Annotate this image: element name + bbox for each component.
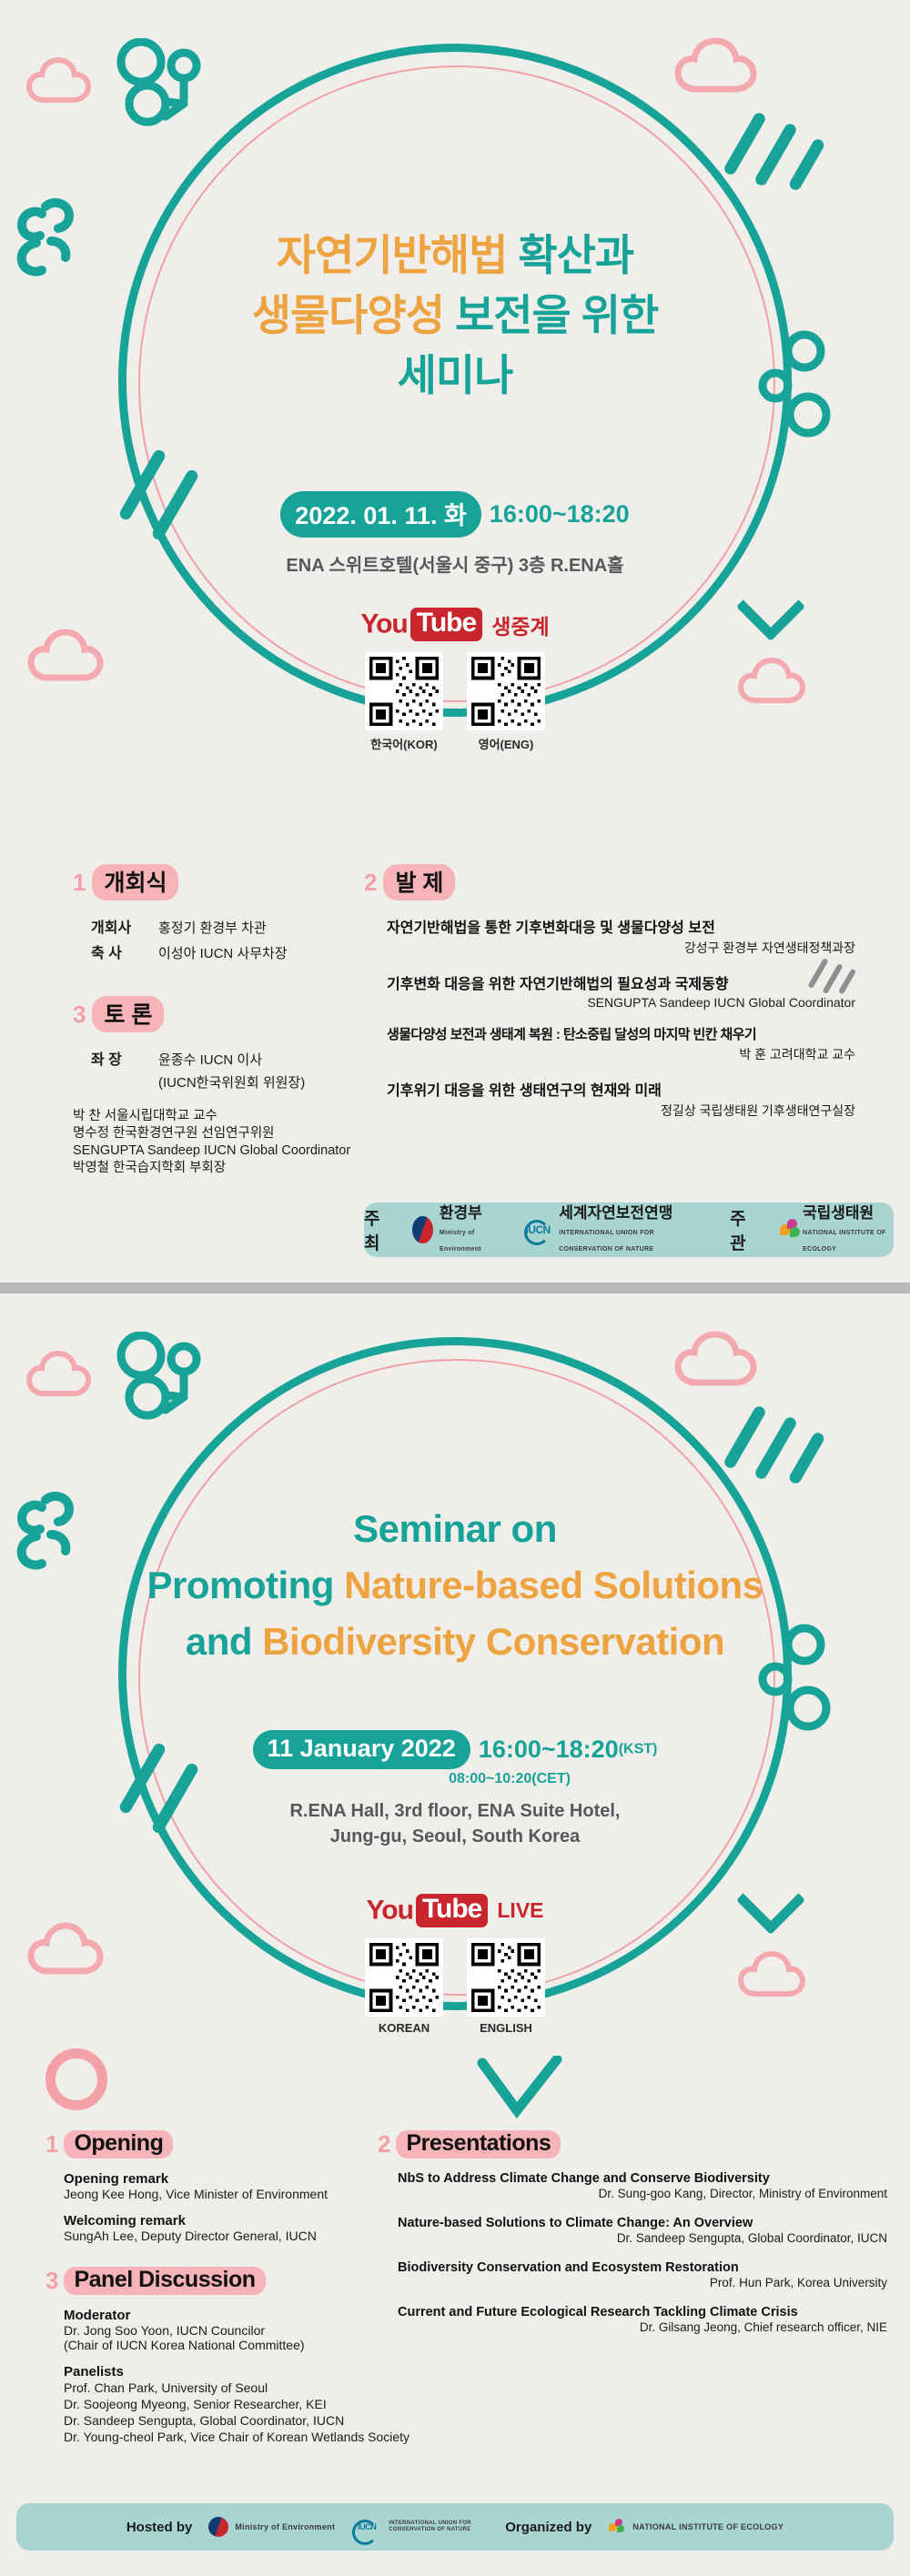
presentation-speaker: 강성구 환경부 자연생태정책과장 — [387, 939, 855, 957]
presentation-item: NbS to Address Climate Change and Conser… — [398, 2171, 887, 2200]
date-time-row: 2022. 01. 11. 화16:00~18:20 — [0, 491, 910, 538]
title-rest: 세미나 — [398, 351, 513, 399]
section-presentations-english: 2Presentations NbS to Address Climate Ch… — [378, 2130, 887, 2350]
title-rest: Promoting — [147, 1564, 344, 1606]
poster-english: Seminar on Promoting Nature-based Soluti… — [0, 1293, 910, 2576]
venue-line-1: R.ENA Hall, 3rd floor, ENA Suite Hotel, — [0, 1798, 910, 1824]
section-number: 1 — [73, 869, 86, 897]
panelist-item: 박 찬 서울시립대학교 교수 — [73, 1108, 373, 1125]
title-rest: 보전을 위한 — [444, 291, 658, 339]
opening-label: Opening remark — [64, 2171, 409, 2187]
slash-mark — [723, 1404, 767, 1470]
section-title: 토 론 — [92, 996, 164, 1032]
qr-label: 한국어(KOR) — [365, 735, 443, 752]
opening-row: 개회사홍정기 환경부 차관 — [91, 915, 364, 937]
qr-row: KOREAN — [0, 1938, 910, 2035]
host-label: Hosted by — [126, 2520, 193, 2535]
presentation-item: 생물다양성 보전과 생태계 복원 : 탄소중립 달성의 마지막 빈칸 채우기 박… — [387, 1024, 855, 1063]
sponsor-iucn: IUCN INTERNATIONAL UNION FOR CONSERVATIO… — [351, 2518, 489, 2536]
presentation-speaker: SENGUPTA Sandeep IUCN Global Coordinator — [387, 995, 855, 1010]
opening-label: Welcoming remark — [64, 2213, 409, 2229]
sponsor-subtitle: Ministry of Environment — [440, 1230, 481, 1253]
youtube-logo[interactable]: YouTube생중계 — [0, 608, 910, 641]
time-text: 16:00~18:20 — [479, 1736, 619, 1764]
presentation-item: Biodiversity Conservation and Ecosystem … — [398, 2260, 887, 2289]
panelist-item: Dr. Soojeong Myeong, Senior Researcher, … — [64, 2396, 437, 2412]
youtube-tube-badge: Tube — [410, 608, 482, 641]
section-number: 3 — [45, 2267, 58, 2295]
sponsor-name: 환경부 — [440, 1204, 482, 1222]
opening-value: Jeong Kee Hong, Vice Minister of Environ… — [64, 2187, 409, 2201]
title-highlight: 자연기반해법 — [277, 231, 507, 279]
qr-image — [365, 1938, 443, 2017]
title-line-3: and Biodiversity Conservation — [0, 1614, 910, 1670]
date-time-row: 11 January 202216:00~18:20(KST) — [0, 1730, 910, 1769]
qr-code-korean[interactable]: 한국어(KOR) — [365, 652, 443, 752]
chair-subtitle: (IUCN한국위원회 위원장) — [158, 1072, 373, 1092]
qr-image — [467, 652, 545, 730]
section-header: 1개회식 — [73, 864, 364, 901]
presentation-title: NbS to Address Climate Change and Conser… — [398, 2171, 887, 2186]
panelist-item: Dr. Sandeep Sengupta, Global Coordinator… — [64, 2412, 437, 2429]
youtube-live-label: 생중계 — [491, 615, 549, 639]
sponsor-subtitle: INTERNATIONAL UNION FOR CONSERVATION OF … — [559, 1230, 654, 1253]
presentation-title: 생물다양성 보전과 생태계 복원 : 탄소중립 달성의 마지막 빈칸 채우기 — [387, 1024, 855, 1043]
slash-mark — [723, 111, 767, 176]
nie-logo-icon — [608, 2519, 626, 2535]
chair-name: 윤종수 IUCN 이사 — [158, 1052, 262, 1068]
title-line-1: 자연기반해법 확산과 — [0, 226, 910, 286]
qr-code-korean[interactable]: KOREAN — [365, 1938, 443, 2035]
opening-row: Opening remark Jeong Kee Hong, Vice Mini… — [64, 2171, 409, 2201]
role-label: 개회사 — [91, 915, 158, 937]
youtube-tube-badge: Tube — [416, 1894, 488, 1927]
section-number: 2 — [364, 869, 377, 897]
qr-code-english[interactable]: ENGLISH — [467, 1938, 545, 2035]
qr-image — [365, 652, 443, 730]
title-highlight: Biodiversity Conservation — [262, 1620, 724, 1663]
slash-mark — [753, 1415, 798, 1481]
sponsor-bar-english: Hosted by Ministry of Environment IUCN I… — [16, 2503, 894, 2551]
pink-cloud-icon — [673, 1330, 773, 1394]
title-rest: 확산과 — [507, 231, 633, 279]
section-title: Panel Discussion — [64, 2267, 265, 2295]
youtube-logo[interactable]: YouTubeLIVE — [0, 1894, 910, 1927]
presentation-item: 기후위기 대응을 위한 생태연구의 현재와 미래 정길상 국립생태원 기후생태연… — [387, 1078, 855, 1120]
qr-image — [467, 1938, 545, 2017]
host-label: 주최 — [364, 1205, 389, 1254]
sponsor-name: INTERNATIONAL UNION FOR CONSERVATION OF … — [389, 2521, 489, 2533]
sponsor-ministry-of-environment: 환경부 Ministry of Environment — [412, 1205, 500, 1255]
panel-chair-row: 좌 장윤종수 IUCN 이사 — [91, 1047, 373, 1069]
presentation-item: 자연기반해법을 통한 기후변화대응 및 생물다양성 보전 강성구 환경부 자연생… — [387, 915, 855, 957]
poster-korean: 자연기반해법 확산과 생물다양성 보전을 위한 세미나 2022. 01. 11… — [0, 0, 910, 1283]
section-header: 2발 제 — [364, 864, 855, 901]
pink-circle-decoration — [45, 2048, 107, 2110]
sponsor-nie: NATIONAL INSTITUTE OF ECOLOGY — [608, 2519, 784, 2535]
panelist-item: 박영철 한국습지학회 부회장 — [73, 1160, 373, 1177]
title-line-3: 세미나 — [0, 346, 910, 406]
presentation-speaker: Prof. Hun Park, Korea University — [398, 2276, 887, 2289]
venue-line-2: Jung-gu, Seoul, South Korea — [0, 1824, 910, 1849]
teal-check-icon — [473, 2056, 573, 2119]
poster-title-english: Seminar on Promoting Nature-based Soluti… — [0, 1501, 910, 1670]
title-rest: and — [186, 1620, 262, 1663]
presentation-speaker: 박 훈 고려대학교 교수 — [387, 1045, 855, 1063]
chair-label: 좌 장 — [91, 1047, 158, 1069]
ministry-of-environment-logo-icon — [208, 2517, 228, 2537]
section-number: 2 — [378, 2130, 390, 2158]
sponsor-bar-korean: 주최 환경부 Ministry of Environment IUCN 세계자연… — [364, 1202, 894, 1257]
section-title: 발 제 — [383, 864, 455, 901]
sponsor-iucn: IUCN 세계자연보전연맹 INTERNATIONAL UNION FOR CO… — [523, 1205, 706, 1255]
presentation-title: Current and Future Ecological Research T… — [398, 2305, 887, 2319]
opening-row: 축 사이성아 IUCN 사무차장 — [91, 941, 364, 962]
time-cet: 08:00~10:20(CET) — [109, 1771, 910, 1787]
opening-value: SungAh Lee, Deputy Director General, IUC… — [64, 2229, 409, 2243]
ministry-of-environment-logo-icon — [412, 1216, 433, 1243]
organizer-label: Organized by — [505, 2520, 591, 2535]
pink-cloud-icon — [25, 1348, 109, 1404]
poster-divider — [0, 1283, 910, 1293]
section-presentations-korean: 2발 제 자연기반해법을 통한 기후변화대응 및 생물다양성 보전 강성구 환경… — [364, 864, 855, 1134]
presentation-speaker: Dr. Gilsang Jeong, Chief research office… — [398, 2320, 887, 2334]
section-panel-korean: 3토 론 좌 장윤종수 IUCN 이사 (IUCN한국위원회 위원장) 박 찬 … — [73, 996, 373, 1177]
presentation-speaker: Dr. Sung-goo Kang, Director, Ministry of… — [398, 2187, 887, 2200]
slash-mark — [787, 1431, 825, 1485]
youtube-you-text: You — [360, 609, 407, 639]
date-venue-block-korean: 2022. 01. 11. 화16:00~18:20 ENA 스위트호텔(서울시… — [0, 491, 910, 577]
section-title: Opening — [64, 2130, 173, 2158]
presentation-item: Nature-based Solutions to Climate Change… — [398, 2216, 887, 2245]
youtube-live-label: LIVE — [497, 1898, 543, 1922]
sponsor-name: 국립생태원 — [803, 1204, 874, 1222]
section-header: 3토 론 — [73, 996, 373, 1032]
sponsor-subtitle: NATIONAL INSTITUTE OF ECOLOGY — [803, 1230, 886, 1253]
slash-mark — [753, 122, 798, 187]
youtube-block-korean: YouTube생중계 — [0, 608, 910, 752]
qr-label: KOREAN — [365, 2021, 443, 2035]
sponsor-name: Ministry of Environment — [235, 2522, 335, 2531]
venue-text: ENA 스위트호텔(서울시 중구) 3층 R.ENA홀 — [0, 550, 910, 577]
presentation-title: Biodiversity Conservation and Ecosystem … — [398, 2260, 887, 2275]
section-header: 1Opening — [45, 2130, 409, 2158]
section-header: 2Presentations — [378, 2130, 887, 2158]
panelists-label: Panelists — [64, 2364, 437, 2380]
panelist-item: SENGUPTA Sandeep IUCN Global Coordinator — [73, 1142, 373, 1160]
role-person: 이성아 IUCN 사무차장 — [158, 946, 288, 961]
panelist-item: Prof. Chan Park, University of Seoul — [64, 2380, 437, 2396]
title-line-1: Seminar on — [0, 1501, 910, 1557]
date-venue-block-english: 11 January 202216:00~18:20(KST) 08:00~10… — [0, 1730, 910, 1849]
section-number: 1 — [45, 2130, 58, 2158]
presentation-title: Nature-based Solutions to Climate Change… — [398, 2216, 887, 2230]
qr-label: ENGLISH — [467, 2021, 545, 2035]
panelists-block: Panelists Prof. Chan Park, University of… — [64, 2364, 437, 2445]
presentation-item: Current and Future Ecological Research T… — [398, 2305, 887, 2334]
panelist-item: Dr. Young-cheol Park, Vice Chair of Kore… — [64, 2429, 437, 2445]
sponsor-ministry-of-environment: Ministry of Environment — [208, 2517, 335, 2537]
opening-row: Welcoming remark SungAh Lee, Deputy Dire… — [64, 2213, 409, 2243]
teal-sprout-icon — [109, 1332, 227, 1459]
section-number: 3 — [73, 1001, 86, 1029]
presentation-title: 기후위기 대응을 위한 생태연구의 현재와 미래 — [387, 1078, 855, 1100]
sponsor-name: 세계자연보전연맹 — [559, 1204, 672, 1222]
role-person: 홍정기 환경부 차관 — [158, 921, 267, 936]
nie-logo-icon — [778, 1219, 796, 1241]
section-opening-korean: 1개회식 개회사홍정기 환경부 차관 축 사이성아 IUCN 사무차장 — [73, 864, 364, 966]
youtube-block-english: YouTubeLIVE — [0, 1894, 910, 2035]
qr-code-english[interactable]: 영어(ENG) — [467, 652, 545, 752]
date-pill: 11 January 2022 — [253, 1730, 470, 1769]
presentation-title: 기후변화 대응을 위한 자연기반해법의 필요성과 국제동향 — [387, 971, 855, 993]
title-line-2: Promoting Nature-based Solutions — [0, 1557, 910, 1614]
slash-mark — [787, 137, 825, 192]
iucn-logo-icon: IUCN — [351, 2518, 382, 2536]
presentation-title: 자연기반해법을 통한 기후변화대응 및 생물다양성 보전 — [387, 915, 855, 937]
section-opening-english: 1Opening Opening remark Jeong Kee Hong, … — [45, 2130, 409, 2255]
organizer-label: 주관 — [730, 1205, 754, 1254]
sponsor-nie: 국립생태원 NATIONAL INSTITUTE OF ECOLOGY — [778, 1205, 894, 1255]
youtube-you-text: You — [367, 1896, 413, 1926]
poster-title-korean: 자연기반해법 확산과 생물다양성 보전을 위한 세미나 — [0, 226, 910, 406]
qr-row: 한국어(KOR) — [0, 652, 910, 752]
qr-label: 영어(ENG) — [467, 735, 545, 752]
presentation-item: 기후변화 대응을 위한 자연기반해법의 필요성과 국제동향 SENGUPTA S… — [387, 971, 855, 1010]
title-rest: Seminar on — [353, 1507, 557, 1550]
pink-cloud-icon — [25, 55, 109, 111]
time-text: 16:00~18:20 — [490, 500, 630, 528]
section-title: 개회식 — [92, 864, 178, 901]
presentation-speaker: Dr. Sandeep Sengupta, Global Coordinator… — [398, 2231, 887, 2245]
pink-cloud-icon — [673, 36, 773, 100]
role-label: 축 사 — [91, 941, 158, 962]
panelists-list: 박 찬 서울시립대학교 교수 명수정 한국환경연구원 선임연구위원 SENGUP… — [73, 1108, 373, 1177]
presentation-speaker: 정길상 국립생태원 기후생태연구실장 — [387, 1102, 855, 1120]
iucn-logo-icon: IUCN — [523, 1218, 552, 1242]
sponsor-name: NATIONAL INSTITUTE OF ECOLOGY — [632, 2522, 784, 2531]
title-highlight: Nature-based Solutions — [344, 1564, 763, 1606]
date-pill: 2022. 01. 11. 화 — [280, 491, 481, 538]
teal-sprout-icon — [109, 38, 227, 166]
panelist-item: 명수정 한국환경연구원 선임연구위원 — [73, 1125, 373, 1142]
title-line-2: 생물다양성 보전을 위한 — [0, 286, 910, 346]
title-highlight: 생물다양성 — [252, 291, 444, 339]
timezone-label: (KST) — [619, 1742, 658, 1757]
section-title: Presentations — [396, 2130, 561, 2158]
